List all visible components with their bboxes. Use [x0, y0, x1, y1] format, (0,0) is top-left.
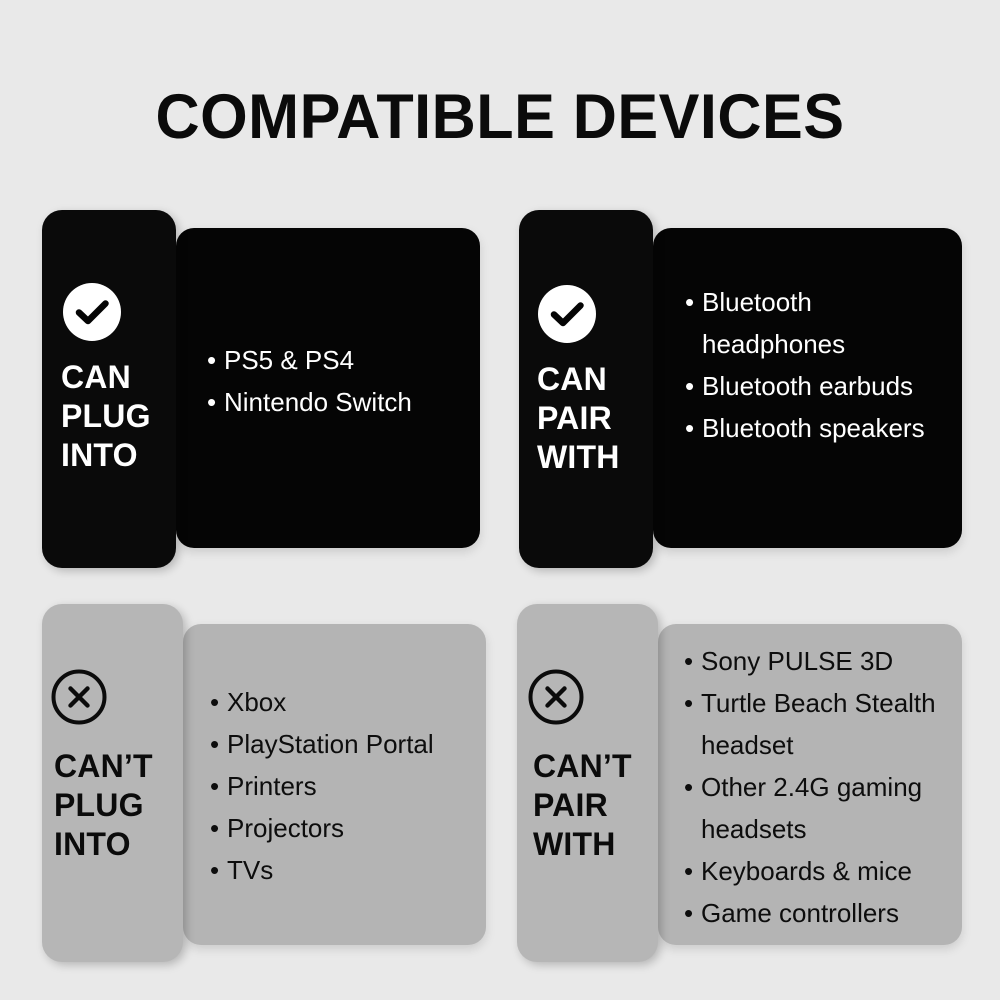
bullet-dot: • [207, 339, 216, 381]
bullet-dot: • [210, 849, 219, 891]
bullet-dot: • [684, 682, 693, 724]
list-item: •Sony PULSE 3D [684, 640, 952, 682]
bullet-dot: • [684, 640, 693, 682]
card-bullet-list: •Bluetooth headphones •Bluetooth earbuds… [685, 281, 953, 449]
bullet-dot: • [685, 281, 694, 323]
bullet-dot: • [684, 850, 693, 892]
list-item: •Bluetooth headphones [685, 281, 953, 365]
list-item: •Nintendo Switch [207, 381, 467, 423]
list-item: •PS5 & PS4 [207, 339, 467, 381]
bullet-dot: • [685, 407, 694, 449]
list-item-label: Nintendo Switch [224, 387, 412, 417]
list-item-label: Xbox [227, 687, 286, 717]
list-item: •PlayStation Portal [210, 723, 475, 765]
card-label-text: CAN PAIR WITH [537, 360, 620, 477]
bullet-dot: • [210, 807, 219, 849]
card-label-text: CAN’T PAIR WITH [533, 747, 632, 864]
list-item: •Keyboards & mice [684, 850, 952, 892]
card-bullet-list: •Xbox •PlayStation Portal •Printers •Pro… [210, 681, 475, 891]
list-item: •Bluetooth earbuds [685, 365, 953, 407]
list-item-label: Bluetooth headphones [702, 287, 845, 359]
list-item: •Printers [210, 765, 475, 807]
list-item-label: Bluetooth earbuds [702, 371, 913, 401]
card-bullet-list: •PS5 & PS4 •Nintendo Switch [207, 339, 467, 423]
list-item-label: Bluetooth speakers [702, 413, 925, 443]
bullet-dot: • [210, 723, 219, 765]
x-circle-icon [50, 668, 108, 726]
list-item-label: PS5 & PS4 [224, 345, 354, 375]
list-item: •Bluetooth speakers [685, 407, 953, 449]
list-item-label: PlayStation Portal [227, 729, 434, 759]
list-item: •Projectors [210, 807, 475, 849]
bullet-dot: • [207, 381, 216, 423]
list-item-label: Keyboards & mice [701, 856, 912, 886]
list-item: •TVs [210, 849, 475, 891]
check-circle-icon [538, 285, 596, 343]
bullet-dot: • [684, 892, 693, 934]
bullet-dot: • [210, 681, 219, 723]
list-item-label: Printers [227, 771, 317, 801]
list-item: •Other 2.4G gaming headsets [684, 766, 952, 850]
list-item-label: Sony PULSE 3D [701, 646, 893, 676]
list-item: •Game controllers [684, 892, 952, 934]
list-item-label: Other 2.4G gaming headsets [701, 772, 922, 844]
x-circle-icon [527, 668, 585, 726]
page-title: COMPATIBLE DEVICES [15, 86, 985, 149]
list-item: •Xbox [210, 681, 475, 723]
card-label-text: CAN PLUG INTO [61, 358, 151, 475]
check-circle-icon [63, 283, 121, 341]
list-item-label: Turtle Beach Stealth headset [701, 688, 936, 760]
bullet-dot: • [685, 365, 694, 407]
list-item: •Turtle Beach Stealth headset [684, 682, 952, 766]
bullet-dot: • [210, 765, 219, 807]
list-item-label: TVs [227, 855, 273, 885]
list-item-label: Projectors [227, 813, 344, 843]
bullet-dot: • [684, 766, 693, 808]
card-label-text: CAN’T PLUG INTO [54, 747, 153, 864]
card-bullet-list: •Sony PULSE 3D •Turtle Beach Stealth hea… [684, 640, 952, 934]
list-item-label: Game controllers [701, 898, 899, 928]
